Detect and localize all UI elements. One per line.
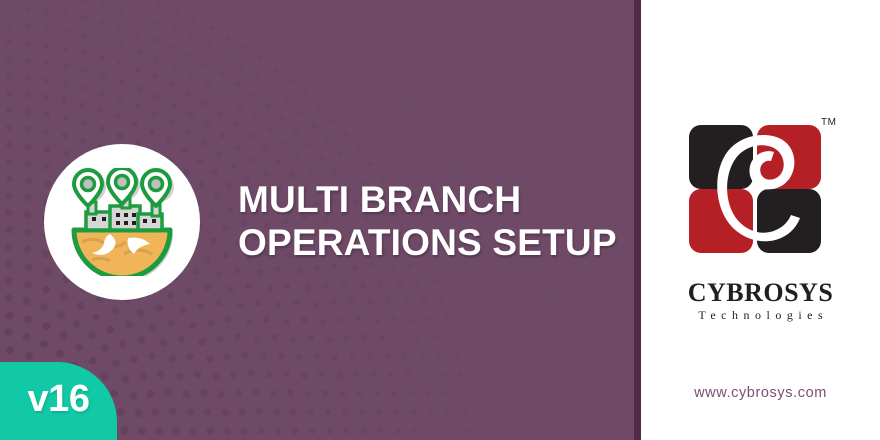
odoo-module-banner: MULTI BRANCH OPERATIONS SETUP v16 [0, 0, 880, 440]
brand-tagline: Technologies [641, 308, 880, 323]
trademark-icon: TM [821, 117, 836, 128]
module-title-line-2: OPERATIONS SETUP [238, 221, 618, 264]
module-title-line-1: MULTI BRANCH [238, 178, 618, 221]
website-url[interactable]: www.cybrosys.com [641, 385, 880, 401]
multi-branch-globe-icon [66, 168, 178, 276]
cybrosys-logo: TM [641, 110, 880, 260]
module-title: MULTI BRANCH OPERATIONS SETUP [238, 178, 618, 264]
version-badge: v16 [0, 362, 117, 440]
panel-divider [634, 0, 641, 440]
cybrosys-logo-mark [685, 115, 837, 255]
module-icon-circle [44, 144, 200, 300]
brand-name: CYBROSYS [641, 278, 880, 308]
left-purple-panel: MULTI BRANCH OPERATIONS SETUP v16 [0, 0, 634, 440]
right-white-panel: TM CYBROSYS Technologies www.cybrosys.co… [641, 0, 880, 440]
version-badge-label: v16 [0, 362, 117, 440]
location-pins [74, 168, 170, 206]
